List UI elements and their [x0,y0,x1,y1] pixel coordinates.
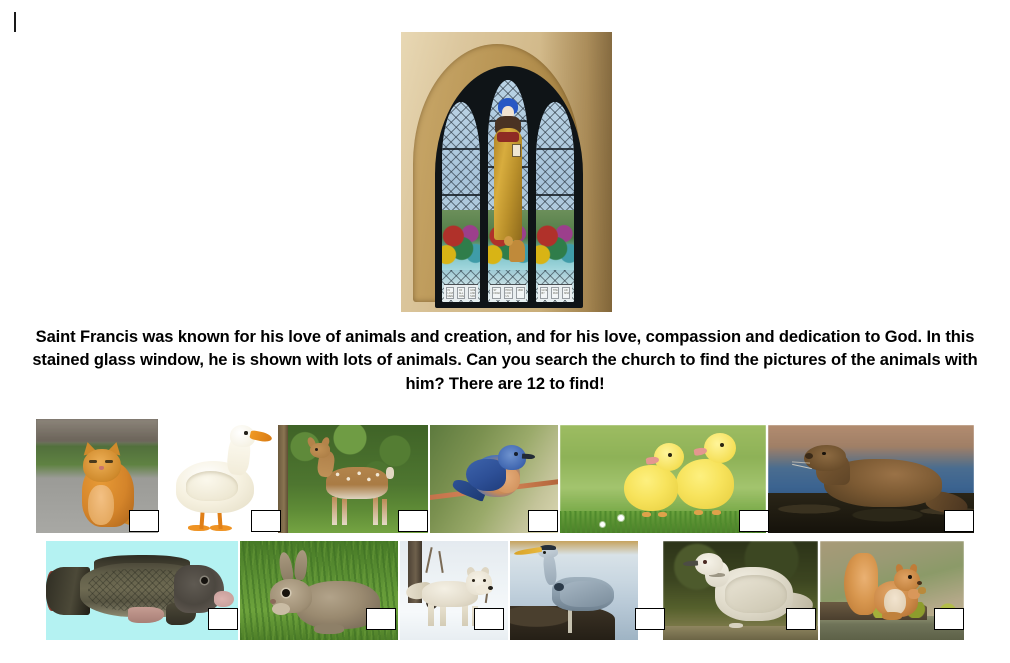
cat-chest [88,485,114,525]
deer-tail [386,467,394,479]
stained-glass-window-image: IN LOVING MEMORY OF ALL CREATURES GREAT … [401,32,612,312]
lead-bar [536,148,574,150]
instructions-paragraph: Saint Francis was known for his love of … [24,326,986,396]
bluebird-eye [514,452,518,456]
window-light-left: IN LOVING MEMORY OF ALL CREATURES GREAT … [442,102,480,302]
squirrel-eye [908,575,912,579]
dove-wing [725,575,787,613]
heron-leg [568,607,572,633]
deer-leg [332,497,337,525]
lead-bar [536,194,574,196]
dove-eye [703,560,707,564]
text-caret [14,12,16,32]
otter-eye [822,452,826,456]
tickbox-bluebird[interactable] [528,510,558,532]
duck-eye [244,431,248,435]
saint-book [512,144,521,157]
fish-lips [214,591,234,607]
tickbox-heron[interactable] [635,608,665,630]
duck-leg-right [217,511,222,529]
wolf-leg [428,604,434,626]
inscription-text: AD MMII [562,287,570,299]
dove-foot [729,623,743,628]
heron-eye [543,551,546,554]
dove-beak [683,560,698,566]
squirrel-tail [844,553,878,615]
rabbit-foot [314,624,344,634]
tickbox-wolf[interactable] [474,608,504,630]
rabbit-nose [270,599,276,604]
heron-wing [560,581,612,607]
deer-eye [315,448,318,451]
deer-spots [330,469,384,487]
window-arch-opening: IN LOVING MEMORY OF ALL CREATURES GREAT … [435,66,583,308]
inscription-text: IN LOVING MEMORY [446,287,454,299]
rock-foreground [510,606,615,640]
daisy [600,522,605,527]
lead-bar [442,194,480,196]
window-arch-stone: IN LOVING MEMORY OF ALL CREATURES GREAT … [413,44,581,302]
duckling-front [624,443,716,517]
otter-nose [805,453,813,459]
cat-eye-left [89,460,97,463]
rabbit-cheek [272,603,290,615]
duck-wing [186,471,238,501]
tickbox-ducklings[interactable] [739,510,769,532]
duckling-foot [658,512,667,517]
bluebird-beak [522,454,535,460]
wolf-leg [462,604,468,626]
squirrel-foot [882,612,902,620]
wolf-nose [488,586,493,590]
inscription-text: OF ALL CREATURES [457,287,465,299]
deer-leg [342,499,347,525]
cat-eye-right [105,460,113,463]
duckling-foot [642,512,651,517]
nut [918,587,926,594]
cat-nose [99,466,104,470]
worksheet-page: IN LOVING MEMORY OF ALL CREATURES GREAT … [0,0,1010,663]
saint-francis-figure [491,98,525,246]
glass-deer [509,240,525,262]
duckling-eye [720,443,724,447]
squirrel-nose [917,581,922,585]
tickbox-deer[interactable] [398,510,428,532]
tickbox-dove[interactable] [786,608,816,630]
duckling-head [654,443,684,471]
window-light-right: GIVEN BY THE PARISH AD MMII [536,102,574,302]
inscription-text: THE PARISH [551,287,559,299]
inscription-text: ST FRANCIS [492,287,501,299]
animal-photo-heron[interactable] [510,541,638,640]
lead-bar [442,148,480,150]
inscription-text: PRAY FOR US [504,287,513,299]
tickbox-cat[interactable] [129,510,159,532]
deer-leg [382,499,387,525]
animal-glass-band [536,210,574,272]
fish-eye [201,577,208,584]
tickbox-otter[interactable] [944,510,974,532]
tickbox-fish[interactable] [208,608,238,630]
inscription-text: 1890 [516,287,525,299]
inscription-text: GREAT AND SMALL [468,287,476,299]
wolf-eye-left [472,579,475,582]
animal-glass-band [442,210,480,272]
deer-leg [373,497,378,525]
tickbox-squirrel[interactable] [934,608,964,630]
rabbit-eye [282,589,290,597]
squirrel-head [894,569,920,591]
inscription-panel: ST FRANCIS PRAY FOR US 1890 [490,284,526,300]
saint-sash [497,132,519,142]
animal-photo-ducklings[interactable] [560,425,766,533]
tickbox-duck[interactable] [251,510,281,532]
inscription-panel: IN LOVING MEMORY OF ALL CREATURES GREAT … [444,284,478,300]
dove-head [695,553,723,575]
window-light-centre: ST FRANCIS PRAY FOR US 1890 [488,80,528,302]
duckling-eye [668,453,672,457]
inscription-text: GIVEN BY [540,287,548,299]
inscription-panel: GIVEN BY THE PARISH AD MMII [538,284,572,300]
duckling-body [624,465,678,511]
wolf-leg [440,606,446,626]
deer-head [310,443,330,458]
heron-crown [540,545,556,550]
daisy [618,515,624,521]
wolf-eye-right [483,579,486,582]
tickbox-rabbit[interactable] [366,608,396,630]
fish-pelvic-fin [128,607,164,623]
heron-shoulder-patch [554,583,564,591]
